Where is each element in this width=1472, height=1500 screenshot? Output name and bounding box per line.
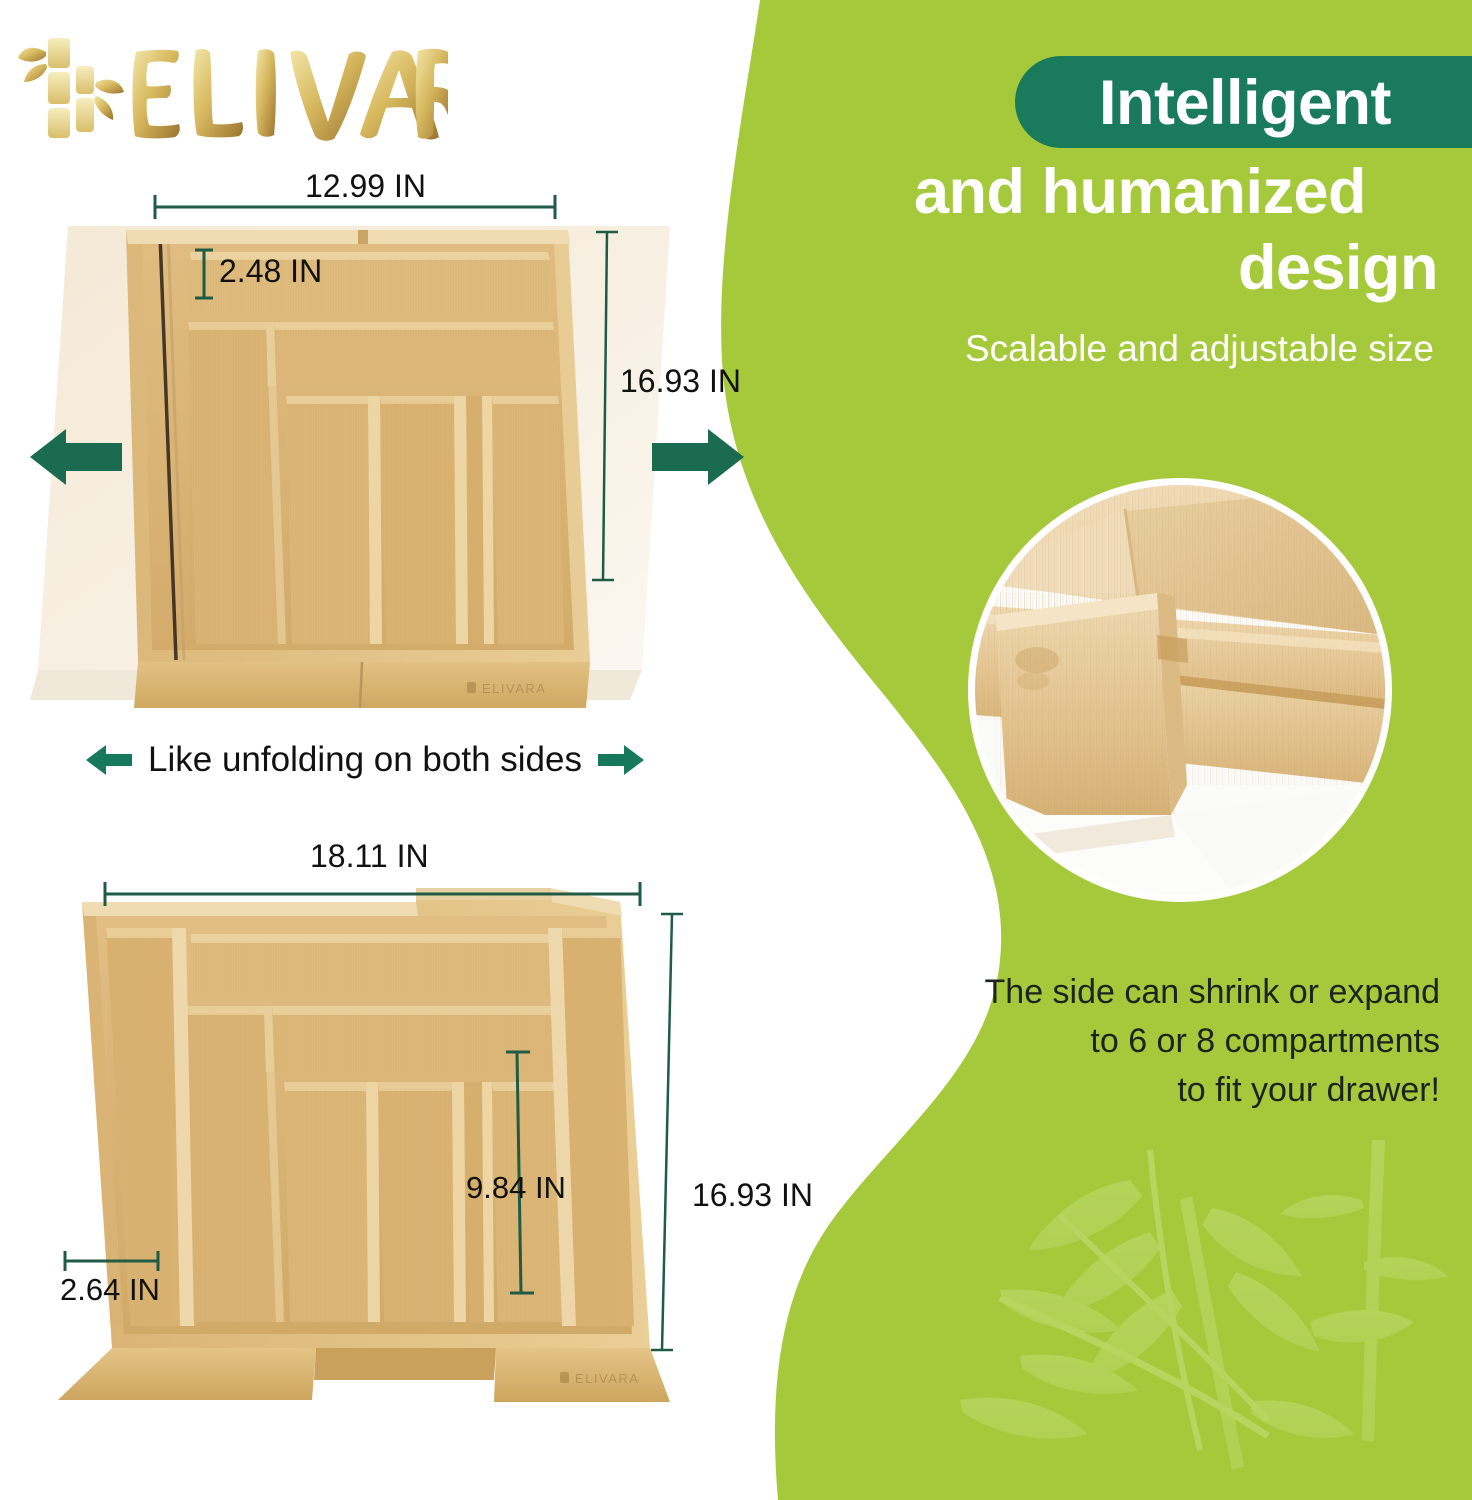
right-description-line-1: The side can shrink or expand [880,968,1440,1017]
dimension-top-height: 16.93 IN [620,363,741,400]
caption-unfolding: Like unfolding on both sides [40,735,690,785]
dimension-top-width: 12.99 IN [305,168,426,205]
brand-wordmark [133,49,449,141]
right-description-line-2: to 6 or 8 compartments [880,1017,1440,1066]
dimension-bottom-width: 18.11 IN [310,838,429,875]
dimension-slot-length: 9.84 IN [466,1170,566,1206]
bamboo-stalk-icon [18,38,124,138]
expand-arrow-right-icon [650,425,748,489]
expand-arrow-left-icon [26,425,124,489]
headline-line-1: Intelligent [1015,64,1472,144]
caption-arrow-right-icon [596,743,646,777]
dimension-bottom-height: 16.93 IN [692,1177,813,1214]
brand-logo [18,30,448,148]
right-description: The side can shrink or expand to 6 or 8 … [880,968,1440,1115]
headline-subtitle: Scalable and adjustable size [820,328,1460,370]
caption-arrow-left-icon [84,743,134,777]
headline-line-3: design [820,230,1460,306]
headline-line-2: and humanized [820,154,1460,230]
dimension-compartment-depth: 2.48 IN [219,253,322,290]
sliding-rail-closeup-inset [968,478,1392,902]
caption-text: Like unfolding on both sides [148,740,582,780]
infographic-canvas: Intelligent and humanized design Scalabl… [0,0,1472,1500]
right-description-line-3: to fit your drawer! [880,1066,1440,1115]
dimension-side-width: 2.64 IN [60,1272,160,1308]
